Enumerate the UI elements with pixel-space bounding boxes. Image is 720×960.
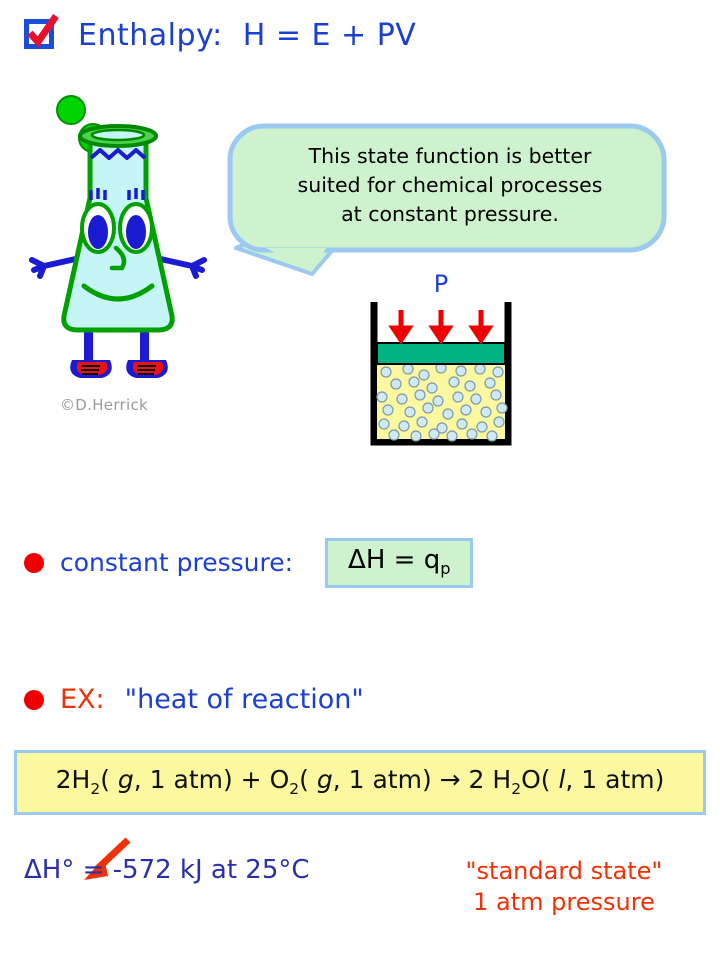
slide-canvas: Enthalpy: H = E + PV: [0, 0, 720, 960]
enthalpy-equation-subscript: p: [440, 559, 450, 578]
bullet-icon: [24, 690, 44, 710]
standard-state-note: "standard state" 1 atm pressure: [424, 856, 704, 918]
rxn-part-b: (: [100, 765, 118, 794]
rxn-part-a: 2H: [56, 765, 91, 794]
rxn-part-g: , 1 atm): [565, 765, 664, 794]
bubble-line-1: This state function is better: [240, 142, 660, 171]
piston-diagram: P: [366, 270, 516, 455]
pressure-label: P: [366, 270, 516, 298]
rxn-part-d: (: [299, 765, 317, 794]
page-title: Enthalpy: H = E + PV: [78, 18, 416, 53]
standard-state-line-2: 1 atm pressure: [424, 887, 704, 918]
bubble-line-3: at constant pressure.: [240, 200, 660, 229]
bubble-line-2: suited for chemical processes: [240, 171, 660, 200]
bullet-icon: [24, 553, 44, 573]
checkbox-checked-icon: [22, 16, 60, 54]
bubble-1: [57, 96, 85, 124]
piston-plate: [377, 343, 505, 364]
rxn-italic-b: g: [118, 765, 134, 794]
example-quote: "heat of reaction": [125, 684, 364, 715]
speech-bubble-text: This state function is better suited for…: [240, 142, 660, 229]
rxn-sub-e: 2: [511, 780, 521, 798]
speech-bubble: This state function is better suited for…: [226, 122, 674, 282]
checkmark-glyph: [22, 14, 60, 52]
standard-state-line-1: "standard state": [424, 856, 704, 887]
example-label: EX:: [60, 684, 105, 715]
flask-mascot: [28, 88, 208, 388]
rxn-part-c: , 1 atm) + O: [134, 765, 290, 794]
artist-credit: ©D.Herrick: [60, 396, 148, 414]
example-row: EX: "heat of reaction": [24, 684, 364, 715]
constant-pressure-row: constant pressure: ΔH = qp: [24, 538, 473, 588]
slide-title-row: Enthalpy: H = E + PV: [22, 16, 416, 54]
rxn-sub-c: 2: [289, 780, 299, 798]
piston-diagram-svg: [366, 302, 516, 452]
rxn-italic-d: g: [317, 765, 333, 794]
constant-pressure-label: constant pressure:: [60, 548, 293, 577]
enthalpy-equation-box: ΔH = qp: [325, 538, 473, 588]
enthalpy-value-text: ΔH° = -572 kJ at 25°C: [24, 855, 310, 885]
rxn-part-f: O(: [521, 765, 558, 794]
reaction-equation-box: 2H2( g, 1 atm) + O2( g, 1 atm) → 2 H2O( …: [14, 750, 706, 815]
enthalpy-equation-text: ΔH = q: [348, 545, 440, 575]
rxn-part-e: , 1 atm) → 2 H: [333, 765, 511, 794]
rxn-sub-a: 2: [90, 780, 100, 798]
